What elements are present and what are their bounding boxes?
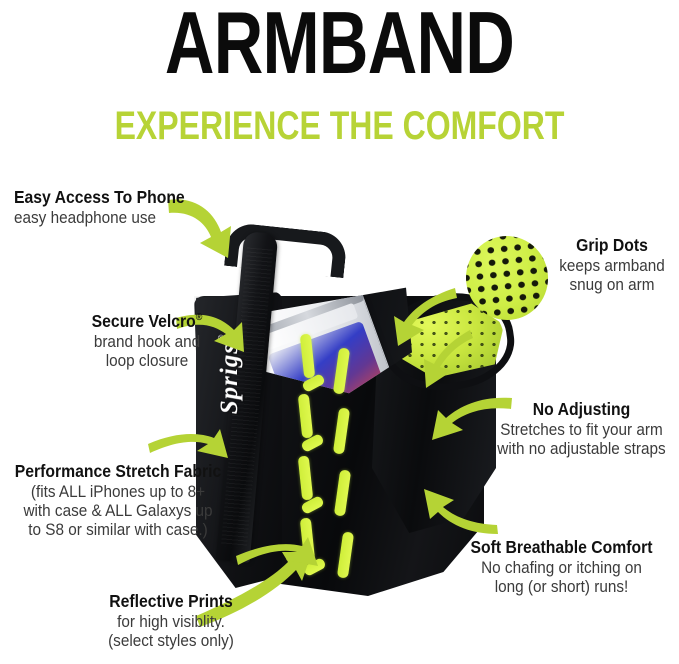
callout-performance-fabric-line-0: (fits ALL iPhones up to 8+ xyxy=(12,482,224,501)
callout-performance-fabric-heading: Performance Stretch Fabric xyxy=(12,462,224,482)
registered-mark-icon: ® xyxy=(196,312,203,323)
callout-no-adjusting-line-1: with no adjustable straps xyxy=(494,439,670,458)
callout-grip-dots-heading: Grip Dots xyxy=(554,236,669,256)
callout-soft-comfort-line-0: No chafing or itching on xyxy=(456,558,668,577)
callout-easy-access-heading: Easy Access To Phone xyxy=(14,188,185,208)
callout-performance-fabric-line-2: to S8 or similar with case.) xyxy=(12,520,224,539)
callout-grip-dots: Grip Dots keeps armband snug on arm xyxy=(548,236,676,294)
callout-grip-dots-line-0: keeps armband xyxy=(554,256,669,275)
callout-secure-velcro-line-0: brand hook and xyxy=(62,332,233,351)
callout-reflective-prints-line-1: (select styles only) xyxy=(73,631,269,650)
callout-performance-fabric-line-1: with case & ALL Galaxys up xyxy=(12,501,224,520)
callout-performance-fabric: Performance Stretch Fabric (fits ALL iPh… xyxy=(0,462,236,539)
reflective-print-graphics xyxy=(300,332,370,602)
callout-soft-comfort: Soft Breathable Comfort No chafing or it… xyxy=(444,538,679,596)
grip-dots-detail-swatch xyxy=(462,232,552,324)
callout-no-adjusting-line-0: Stretches to fit your arm xyxy=(494,420,670,439)
callout-soft-comfort-heading: Soft Breathable Comfort xyxy=(456,538,668,558)
callout-secure-velcro-line-1: loop closure xyxy=(62,351,233,370)
page-title: ARMBAND xyxy=(75,0,605,93)
callout-reflective-prints-line-0: for high visiblity. xyxy=(73,612,269,631)
callout-secure-velcro: Secure Velcro® brand hook and loop closu… xyxy=(52,312,242,370)
callout-reflective-prints-heading: Reflective Prints xyxy=(73,592,269,612)
page-subtitle: EXPERIENCE THE COMFORT xyxy=(68,104,611,149)
infographic-canvas: ARMBAND EXPERIENCE THE COMFORT Sprigs® xyxy=(0,0,679,664)
callout-soft-comfort-line-1: long (or short) runs! xyxy=(456,577,668,596)
callout-no-adjusting-heading: No Adjusting xyxy=(494,400,670,420)
callout-no-adjusting: No Adjusting Stretches to fit your arm w… xyxy=(484,400,679,458)
callout-secure-velcro-heading-text: Secure Velcro xyxy=(92,311,196,331)
callout-secure-velcro-heading: Secure Velcro® xyxy=(62,312,233,332)
callout-reflective-prints: Reflective Prints for high visiblity. (s… xyxy=(62,592,280,650)
callout-easy-access: Easy Access To Phone easy headphone use xyxy=(14,188,204,227)
callout-grip-dots-line-1: snug on arm xyxy=(554,275,669,294)
callout-easy-access-line-0: easy headphone use xyxy=(14,208,185,227)
